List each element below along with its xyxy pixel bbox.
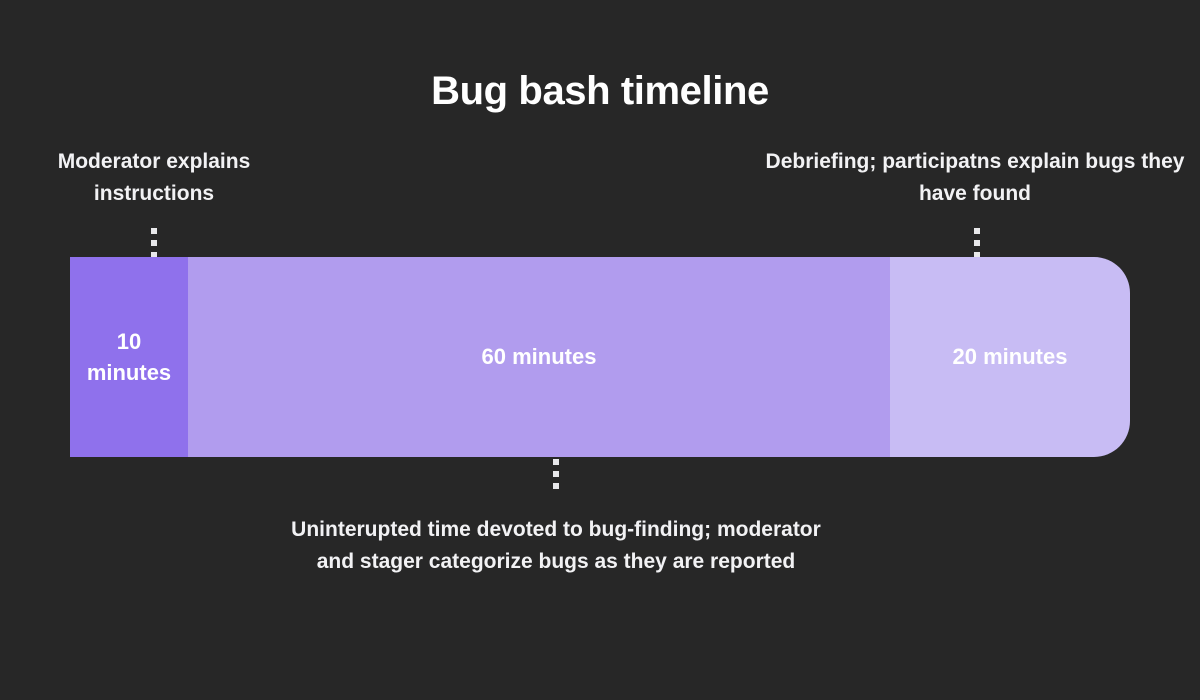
timeline-segment-intro: 10 minutes	[70, 257, 188, 457]
callout-label-bug-finding: Uninterupted time devoted to bug-finding…	[286, 514, 826, 578]
callout-label-intro: Moderator explains instructions	[25, 146, 283, 210]
timeline-segment-debrief: 20 minutes	[890, 257, 1130, 457]
timeline-bar: 10 minutes 60 minutes 20 minutes	[70, 257, 1130, 457]
callout-label-debrief: Debriefing; participatns explain bugs th…	[745, 146, 1200, 210]
dotted-connector-intro-icon	[151, 228, 157, 258]
dotted-connector-bug-finding-icon	[553, 459, 559, 492]
bug-bash-timeline-infographic: Bug bash timeline Moderator explains ins…	[0, 0, 1200, 700]
dotted-connector-debrief-icon	[974, 228, 980, 258]
timeline-segment-bug-finding: 60 minutes	[188, 257, 890, 457]
page-title: Bug bash timeline	[0, 68, 1200, 114]
